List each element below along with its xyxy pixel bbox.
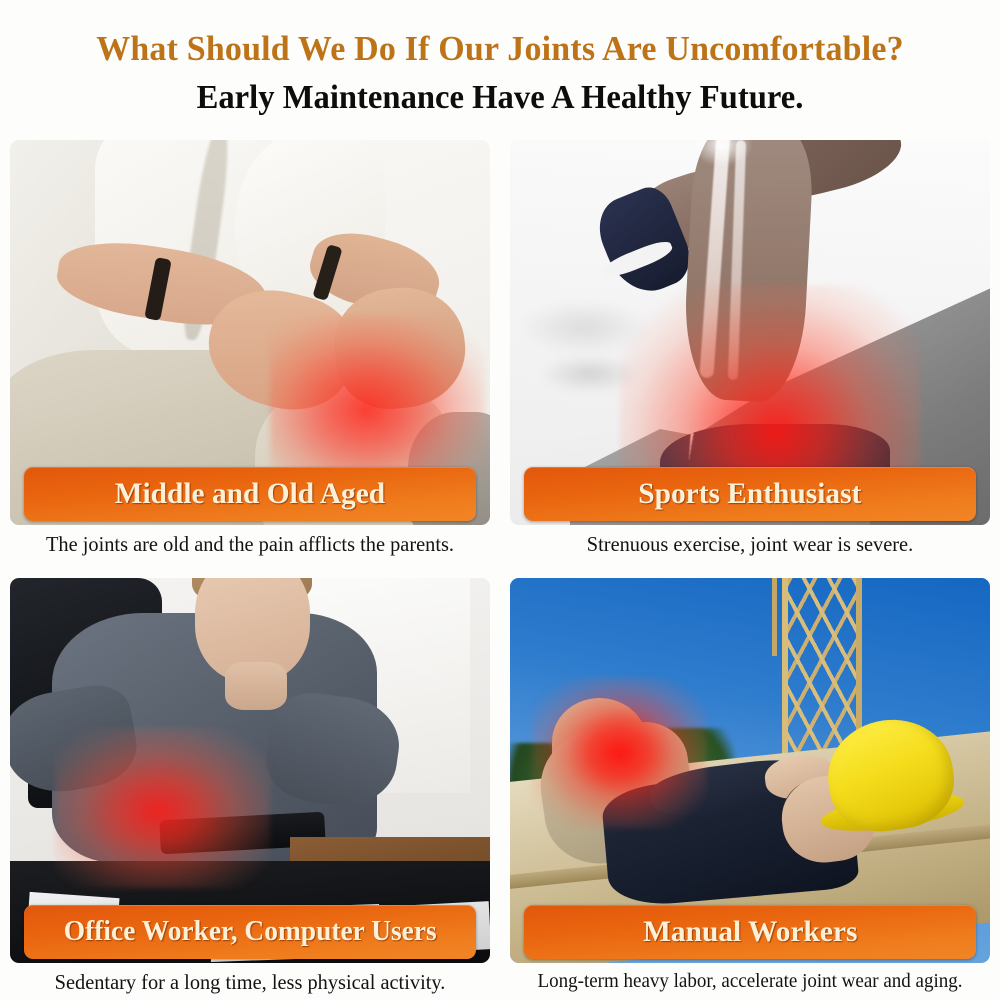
banner-office-worker-computer-users: Office Worker, Computer Users bbox=[24, 905, 476, 959]
banner-sports-enthusiast: Sports Enthusiast bbox=[524, 467, 976, 521]
page-subtitle: Early Maintenance Have A Healthy Future. bbox=[20, 80, 980, 117]
banner-label: Office Worker, Computer Users bbox=[64, 916, 437, 948]
crane-cable-shape bbox=[772, 578, 777, 656]
photo-sports-enthusiast: Sports Enthusiast bbox=[510, 140, 990, 525]
card-manual-workers: Manual Workers Long-term heavy labor, ac… bbox=[510, 578, 990, 990]
page-title: What Should We Do If Our Joints Are Unco… bbox=[15, 30, 985, 68]
card-sports-enthusiast: Sports Enthusiast Strenuous exercise, jo… bbox=[510, 140, 990, 552]
photo-office-worker-computer-users: Office Worker, Computer Users bbox=[10, 578, 490, 963]
knee-joint-icon bbox=[692, 140, 752, 166]
banner-label: Sports Enthusiast bbox=[638, 477, 861, 511]
heading-block: What Should We Do If Our Joints Are Unco… bbox=[0, 0, 1000, 117]
banner-label: Middle and Old Aged bbox=[115, 477, 385, 511]
caption-manual-workers: Long-term heavy labor, accelerate joint … bbox=[522, 970, 978, 993]
banner-manual-workers: Manual Workers bbox=[524, 905, 976, 959]
banner-middle-and-old-aged: Middle and Old Aged bbox=[24, 467, 476, 521]
neck-shape bbox=[225, 662, 287, 710]
caption-sports-enthusiast: Strenuous exercise, joint wear is severe… bbox=[517, 532, 983, 557]
card-grid: Middle and Old Aged The joints are old a… bbox=[10, 140, 990, 990]
card-middle-and-old-aged: Middle and Old Aged The joints are old a… bbox=[10, 140, 490, 552]
banner-label: Manual Workers bbox=[643, 915, 857, 949]
photo-manual-workers: Manual Workers bbox=[510, 578, 990, 963]
infographic-page: What Should We Do If Our Joints Are Unco… bbox=[0, 0, 1000, 1000]
pain-glow-icon bbox=[532, 678, 707, 828]
card-office-worker-computer-users: Office Worker, Computer Users Sedentary … bbox=[10, 578, 490, 990]
caption-office-worker-computer-users: Sedentary for a long time, less physical… bbox=[17, 970, 483, 995]
pain-glow-icon bbox=[55, 728, 270, 888]
caption-middle-and-old-aged: The joints are old and the pain afflicts… bbox=[17, 532, 483, 557]
photo-middle-and-old-aged: Middle and Old Aged bbox=[10, 140, 490, 525]
